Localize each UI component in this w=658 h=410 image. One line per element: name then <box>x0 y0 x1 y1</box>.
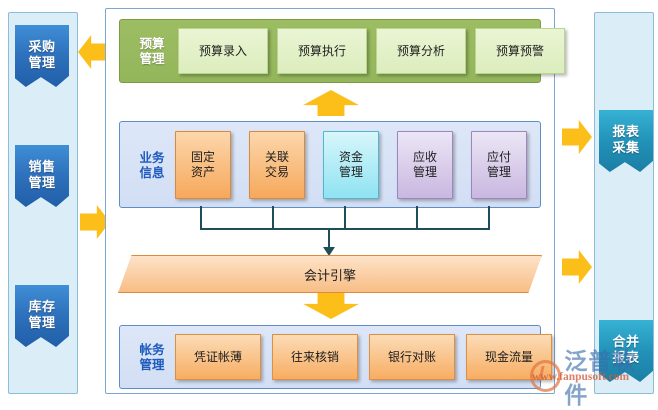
card-receivables-management-line1: 应收 <box>413 150 437 165</box>
card-receivables-management[interactable]: 应收 管理 <box>397 131 453 199</box>
connector-line-receivables <box>416 206 418 230</box>
accounting-engine-label: 会计引擎 <box>304 265 356 284</box>
left-rail-item-sales[interactable]: 销售 管理 <box>15 145 69 207</box>
arrow-up-icon <box>303 90 359 116</box>
card-related-transactions-line2: 交易 <box>265 165 289 180</box>
connector-line-payables <box>488 206 490 230</box>
card-fixed-assets[interactable]: 固定 资产 <box>175 131 231 199</box>
card-fixed-assets-line1: 固定 <box>191 150 215 165</box>
connector-line-to-engine <box>328 228 330 249</box>
band-accounting-cards: 凭证帐薄 往来核销 银行对账 现金流量 <box>175 326 552 388</box>
arrow-right-icon-bottom <box>562 250 592 284</box>
card-related-transactions[interactable]: 关联 交易 <box>249 131 305 199</box>
card-budget-analysis[interactable]: 预算分析 <box>376 28 466 74</box>
card-payables-management-line2: 管理 <box>487 165 511 180</box>
card-cash-flow[interactable]: 现金流量 <box>466 334 552 380</box>
right-rail-item-report-collection[interactable]: 报表 采集 <box>599 110 653 172</box>
left-rail-item-sales-line1: 销售 <box>28 160 55 176</box>
card-budget-execution[interactable]: 预算执行 <box>277 28 367 74</box>
core-system-frame: 预算 管理 预算录入 预算执行 预算分析 预算预警 业务 信息 固定 资产 <box>105 8 555 394</box>
card-budget-alert[interactable]: 预算预警 <box>475 28 565 74</box>
right-rail-item-consolidated-report-line1: 合并 <box>612 335 639 351</box>
band-budget-management: 预算 管理 预算录入 预算执行 预算分析 预算预警 <box>119 19 541 83</box>
band-business-label: 业务 信息 <box>132 150 172 180</box>
connector-arrowhead-icon <box>323 247 335 256</box>
card-payables-management-line1: 应付 <box>487 150 511 165</box>
right-rail-item-consolidated-report-line2: 报表 <box>612 351 639 367</box>
band-accounting-label-line2: 管理 <box>139 357 164 372</box>
band-business-label-line1: 业务 <box>139 150 164 165</box>
band-business-label-line2: 信息 <box>139 165 164 180</box>
connector-bus-horizontal <box>200 228 490 230</box>
band-budget-label-line1: 预算 <box>139 36 164 51</box>
band-budget-label-line2: 管理 <box>139 51 164 66</box>
band-accounting-management: 帐务 管理 凭证帐薄 往来核销 银行对账 现金流量 <box>119 325 541 389</box>
connector-line-fund-management <box>344 206 346 230</box>
right-rail-item-report-collection-line1: 报表 <box>612 125 639 141</box>
connector-line-fixed-assets <box>200 206 202 230</box>
card-fund-management[interactable]: 资金 管理 <box>323 131 379 199</box>
arrow-right-icon-top <box>562 120 592 154</box>
card-current-account-writeoff[interactable]: 往来核销 <box>272 334 358 380</box>
connector-line-related-transactions <box>272 206 274 230</box>
band-business-information: 业务 信息 固定 资产 关联 交易 资金 管理 应收 管理 <box>119 121 541 208</box>
right-rail-item-report-collection-line2: 采集 <box>612 141 639 157</box>
card-budget-entry[interactable]: 预算录入 <box>178 28 268 74</box>
card-receivables-management-line2: 管理 <box>413 165 437 180</box>
card-voucher-ledger[interactable]: 凭证帐薄 <box>175 334 261 380</box>
card-payables-management[interactable]: 应付 管理 <box>471 131 527 199</box>
band-business-cards: 固定 资产 关联 交易 资金 管理 应收 管理 应付 管理 <box>175 122 527 207</box>
band-accounting-label: 帐务 管理 <box>132 342 172 372</box>
left-rail-item-sales-line2: 管理 <box>28 176 55 192</box>
right-rail-item-consolidated-report[interactable]: 合并 报表 <box>599 320 653 382</box>
band-budget-label: 预算 管理 <box>132 36 172 66</box>
band-accounting-label-line1: 帐务 <box>139 342 164 357</box>
left-rail-item-inventory[interactable]: 库存 管理 <box>15 285 69 347</box>
card-fund-management-line1: 资金 <box>339 150 363 165</box>
card-bank-reconciliation[interactable]: 银行对账 <box>369 334 455 380</box>
accounting-engine-block[interactable]: 会计引擎 <box>118 255 542 293</box>
card-fixed-assets-line2: 资产 <box>191 165 215 180</box>
diagram-canvas: 采购 管理 销售 管理 库存 管理 报表 采集 合并 报表 预算 管理 预算录入… <box>0 0 658 400</box>
card-related-transactions-line1: 关联 <box>265 150 289 165</box>
arrow-down-icon <box>303 293 359 319</box>
arrow-left-icon <box>78 35 108 69</box>
left-rail-item-procurement-line1: 采购 <box>28 40 55 56</box>
card-fund-management-line2: 管理 <box>339 165 363 180</box>
left-rail-item-procurement-line2: 管理 <box>28 56 55 72</box>
band-budget-cards: 预算录入 预算执行 预算分析 预算预警 <box>178 20 565 82</box>
left-rail-item-procurement[interactable]: 采购 管理 <box>15 25 69 87</box>
left-rail-item-inventory-line1: 库存 <box>28 300 55 316</box>
left-rail-item-inventory-line2: 管理 <box>28 316 55 332</box>
